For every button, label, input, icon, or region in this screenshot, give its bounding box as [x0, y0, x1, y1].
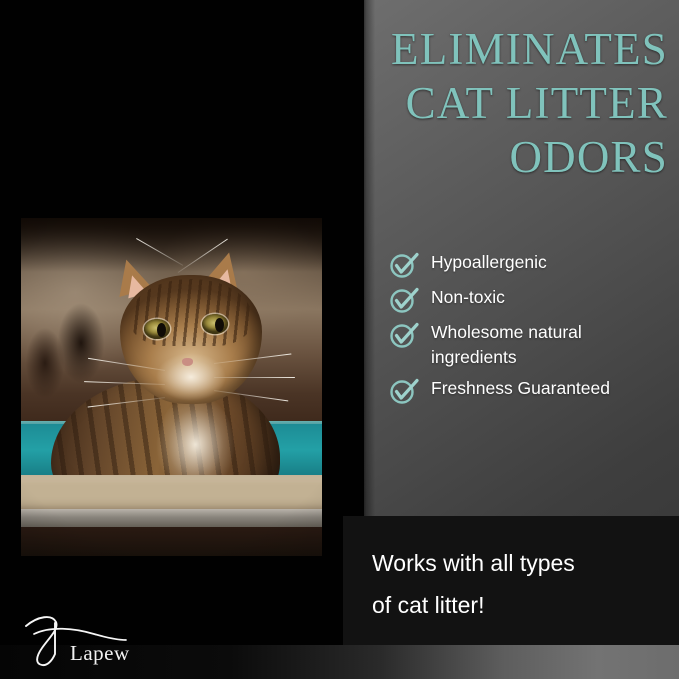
- feature-list: Hypoallergenic Non-toxic Wholesome natur…: [389, 250, 671, 411]
- feature-item-hypoallergenic: Hypoallergenic: [389, 250, 671, 279]
- feature-item-wholesome-natural-ingredients: Wholesome natural ingredients: [389, 320, 671, 370]
- headline-line-2: CAT LITTER: [268, 76, 668, 130]
- callout-line-2: of cat litter!: [372, 584, 662, 626]
- feature-label: Wholesome natural ingredients: [431, 320, 669, 370]
- photo-inner: [21, 218, 322, 556]
- feature-label: Hypoallergenic: [431, 250, 547, 275]
- brand-logo: Lapew: [22, 612, 152, 670]
- feature-item-freshness-guaranteed: Freshness Guaranteed: [389, 376, 671, 405]
- brand-name: Lapew: [70, 641, 130, 666]
- feature-label: Non-toxic: [431, 285, 505, 310]
- callout-text: Works with all types of cat litter!: [372, 542, 662, 626]
- check-circle-icon: [389, 377, 419, 405]
- product-photo-kitten-in-litter-box: [21, 218, 322, 556]
- feature-label: Freshness Guaranteed: [431, 376, 610, 401]
- headline-line-1: ELIMINATES: [268, 22, 668, 76]
- photo-vignette: [21, 218, 322, 556]
- callout-line-1: Works with all types: [372, 542, 662, 584]
- check-circle-icon: [389, 251, 419, 279]
- headline-line-3: ODORS: [268, 130, 668, 184]
- check-circle-icon: [389, 286, 419, 314]
- product-ad-canvas: ELIMINATES CAT LITTER ODORS Hypoallergen…: [0, 0, 679, 679]
- headline: ELIMINATES CAT LITTER ODORS: [268, 22, 668, 184]
- check-circle-icon: [389, 321, 419, 349]
- feature-item-non-toxic: Non-toxic: [389, 285, 671, 314]
- callout-box: Works with all types of cat litter!: [343, 516, 679, 645]
